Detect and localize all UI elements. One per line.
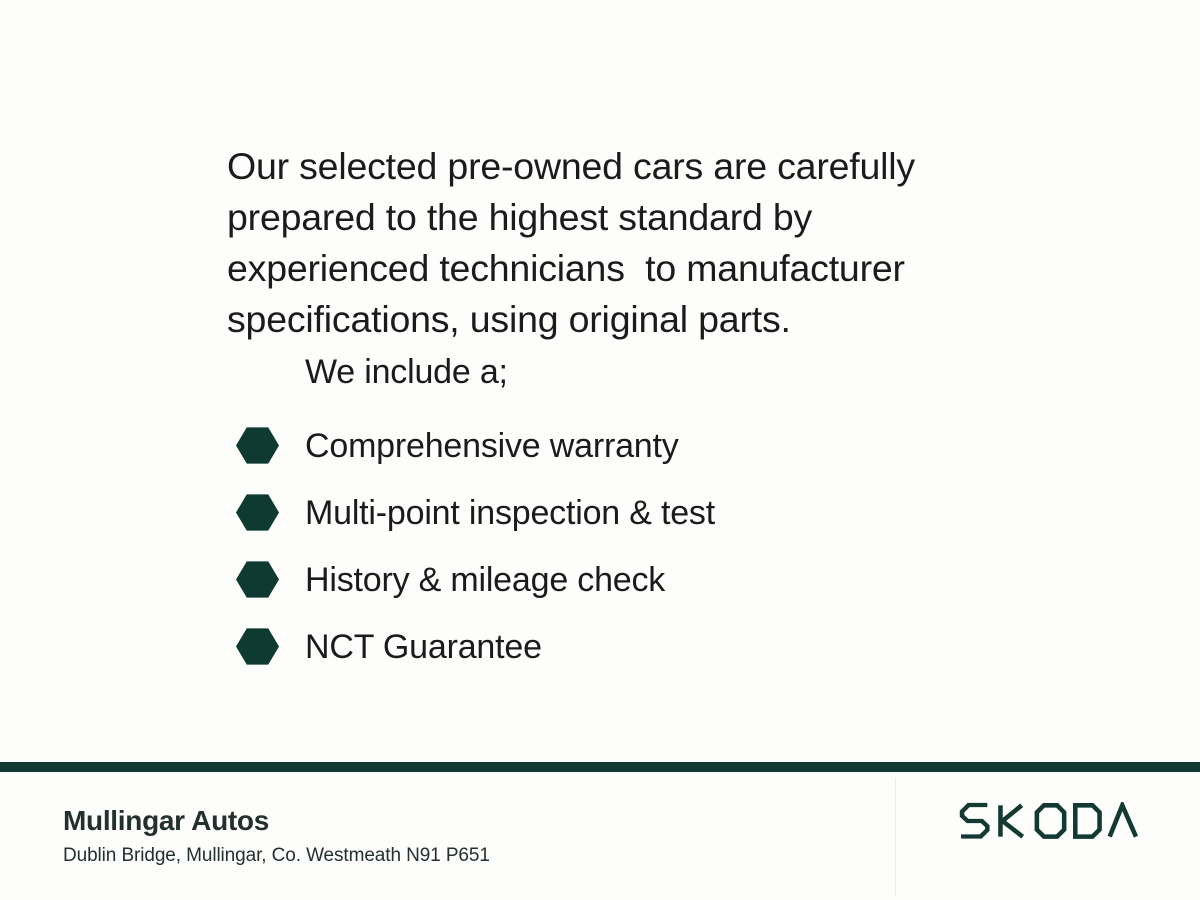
benefit-label: Multi-point inspection & test bbox=[305, 493, 715, 533]
footer-divider-bar bbox=[0, 762, 1200, 772]
dealer-name: Mullingar Autos bbox=[63, 804, 490, 838]
promo-slide: Our selected pre-owned cars are carefull… bbox=[0, 0, 1200, 900]
hexagon-bullet-icon bbox=[236, 628, 279, 665]
hexagon-bullet-icon bbox=[236, 427, 279, 464]
list-item: NCT Guarantee bbox=[227, 613, 1027, 680]
list-item: Comprehensive warranty bbox=[227, 412, 1027, 479]
list-item: History & mileage check bbox=[227, 546, 1027, 613]
list-item: Multi-point inspection & test bbox=[227, 479, 1027, 546]
benefit-label: NCT Guarantee bbox=[305, 627, 542, 667]
intro-paragraph: Our selected pre-owned cars are carefull… bbox=[227, 141, 1017, 345]
dealer-address: Dublin Bridge, Mullingar, Co. Westmeath … bbox=[63, 844, 490, 868]
includes-lead-text: We include a; bbox=[305, 352, 1027, 392]
benefit-label: History & mileage check bbox=[305, 560, 665, 600]
dealer-info: Mullingar Autos Dublin Bridge, Mullingar… bbox=[63, 804, 490, 868]
hexagon-bullet-icon bbox=[236, 561, 279, 598]
benefits-list: Comprehensive warranty Multi-point inspe… bbox=[227, 412, 1027, 680]
footer-vertical-divider bbox=[895, 778, 896, 896]
benefit-label: Comprehensive warranty bbox=[305, 426, 679, 466]
hexagon-bullet-icon bbox=[236, 494, 279, 531]
skoda-wordmark-icon bbox=[958, 802, 1140, 842]
includes-block: We include a; Comprehensive warranty Mul… bbox=[227, 352, 1027, 680]
